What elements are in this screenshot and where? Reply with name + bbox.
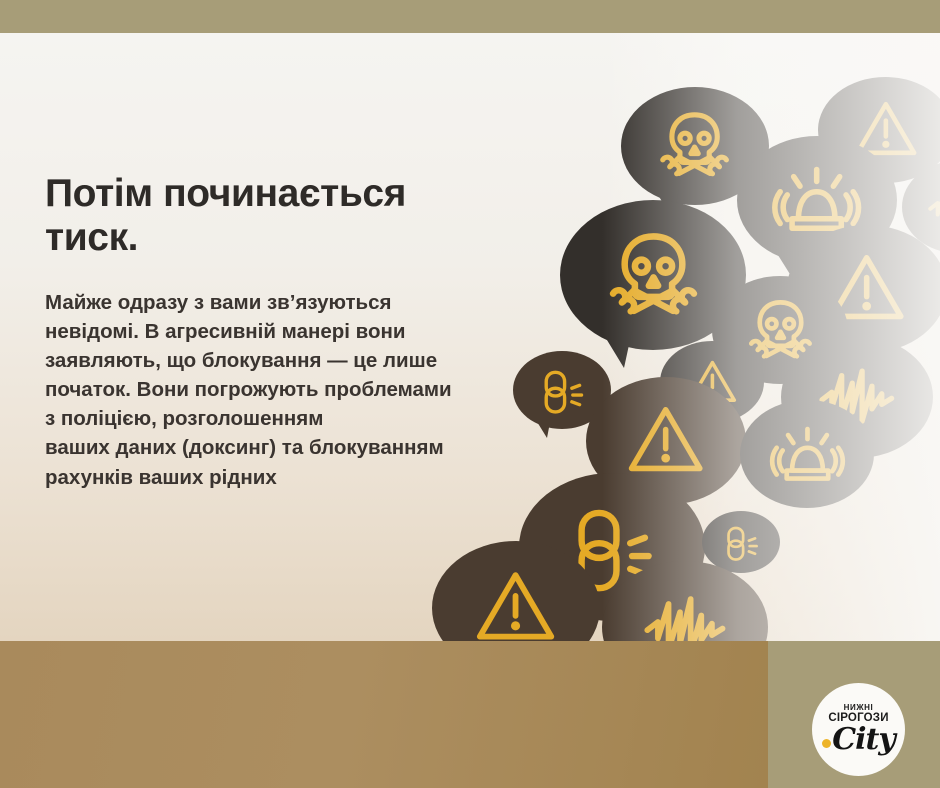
bubble-tail [531,412,552,438]
skull-crossbones-icon [658,109,731,182]
speech-bubble [432,541,600,641]
bottom-tan-band [0,641,768,788]
infographic-slide: Потім починається тиск. Майже одразу з в… [0,0,940,788]
brand-logo: НИЖНІ СІРОГОЗИ City [812,683,905,776]
logo-dot-icon [822,739,831,748]
text-column: Потім починається тиск. Майже одразу з в… [45,172,505,492]
broken-chain-icon [722,523,760,561]
warning-triangle-icon [474,566,557,641]
speech-bubble [740,400,874,508]
top-olive-band [0,0,940,33]
warning-triangle-icon [626,401,705,480]
broken-chain-icon [538,366,586,414]
logo-wordmark: City [832,725,895,755]
skull-crossbones-icon [607,229,700,322]
logo-line-1: НИЖНІ [844,704,874,712]
speech-bubble [602,561,768,641]
logo-wordmark-row: City [822,725,895,755]
zigzag-icon [644,586,726,641]
page-title: Потім починається тиск. [45,172,505,261]
body-paragraph: Майже одразу з вами зв’язуються невідомі… [45,288,505,492]
siren-icon [774,421,841,488]
